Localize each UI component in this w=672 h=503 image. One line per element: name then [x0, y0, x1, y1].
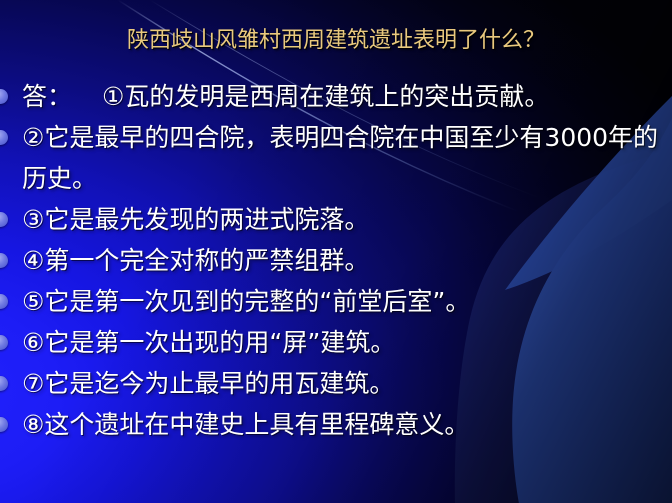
bullet-marker-icon [0, 376, 8, 391]
bullet-paragraph-3: ③它是最先发现的两进式院落。 [0, 199, 672, 240]
bullet-text-7: ⑦它是迄今为止最早的用瓦建筑。 [22, 363, 670, 404]
bullet-text-8: ⑧这个遗址在中建史上具有里程碑意义。 [22, 404, 670, 445]
bullet-paragraph-2: ②它是最早的四合院，表明四合院在中国至少有3000年的历史。 [0, 117, 672, 199]
bullet-paragraph-7: ⑦它是迄今为止最早的用瓦建筑。 [0, 363, 672, 404]
bullet-marker-icon [0, 253, 8, 268]
bullet-marker-icon [0, 89, 8, 104]
bullet-marker-icon [0, 335, 8, 350]
bullet-text-4: ④第一个完全对称的严禁组群。 [22, 240, 670, 281]
bullet-text-1: ①瓦的发明是西周在建筑上的突出贡献。 [102, 82, 549, 111]
bullet-paragraph-8: ⑧这个遗址在中建史上具有里程碑意义。 [0, 404, 672, 445]
bullet-text-6: ⑥它是第一次出现的用“屏”建筑。 [22, 322, 670, 363]
answer-label: 答： [22, 82, 72, 111]
bullet-paragraph-4: ④第一个完全对称的严禁组群。 [0, 240, 672, 281]
bullet-paragraph-5: ⑤它是第一次见到的完整的“前堂后室”。 [0, 281, 672, 322]
bullet-text-3: ③它是最先发现的两进式院落。 [22, 199, 670, 240]
bullet-marker-icon [0, 212, 8, 227]
bullet-paragraph-6: ⑥它是第一次出现的用“屏”建筑。 [0, 322, 672, 363]
bullet-marker-icon [0, 294, 8, 309]
bullet-marker-icon [0, 417, 8, 432]
presentation-slide: 陕西歧山风雏村西周建筑遗址表明了什么？ 答：①瓦的发明是西周在建筑上的突出贡献。… [0, 0, 672, 503]
bullet-marker-icon [0, 130, 8, 145]
bullet-paragraph-1: 答：①瓦的发明是西周在建筑上的突出贡献。 [0, 76, 672, 117]
bullet-text-2: ②它是最早的四合院，表明四合院在中国至少有3000年的历史。 [22, 117, 670, 199]
slide-body: 答：①瓦的发明是西周在建筑上的突出贡献。 ②它是最早的四合院，表明四合院在中国至… [0, 76, 672, 445]
slide-title: 陕西歧山风雏村西周建筑遗址表明了什么？ [0, 26, 672, 56]
bullet-text-5: ⑤它是第一次见到的完整的“前堂后室”。 [22, 281, 670, 322]
